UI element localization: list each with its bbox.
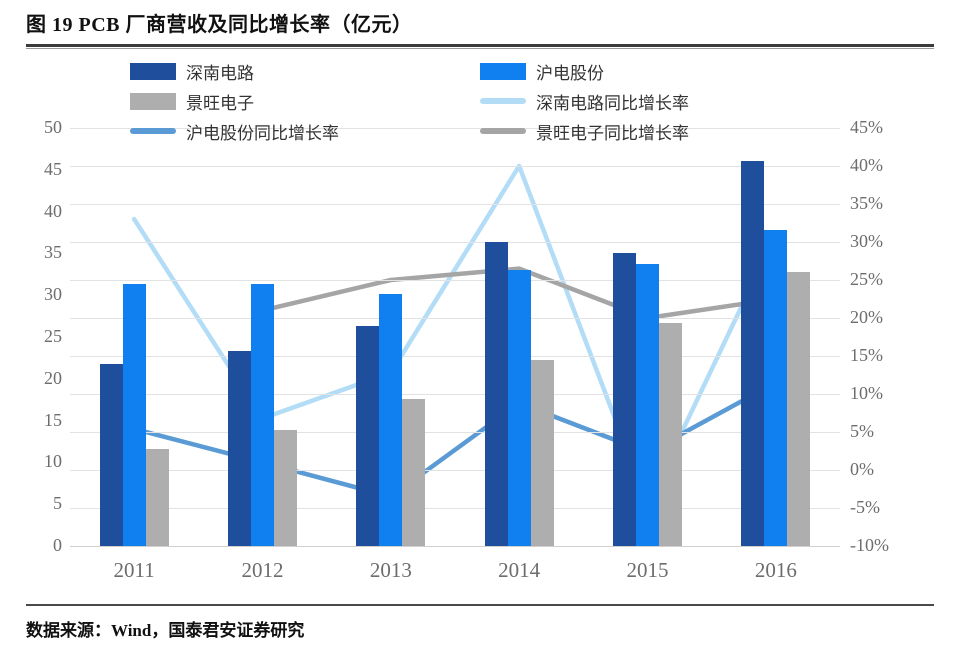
y-tick-right: 40%: [850, 155, 920, 176]
y-tick-left: 50: [18, 117, 62, 138]
bar-shennan: [356, 326, 379, 546]
gridline: [70, 432, 840, 433]
legend-item: 景旺电子同比增长率: [480, 119, 830, 144]
legend-line-swatch: [480, 128, 526, 134]
y-tick-left: 10: [18, 451, 62, 472]
gridline: [70, 394, 840, 395]
y-tick-left: 0: [18, 535, 62, 556]
y-tick-left: 30: [18, 284, 62, 305]
title-block: 图 19 PCB 厂商营收及同比增长率（亿元）: [26, 8, 934, 37]
y-tick-right: -5%: [850, 497, 920, 518]
bar-shennan: [613, 253, 636, 546]
bar-hudian: [379, 294, 402, 546]
footer-divider: [26, 604, 934, 606]
y-tick-left: 20: [18, 368, 62, 389]
y-tick-right: 15%: [850, 345, 920, 366]
y-tick-right: 35%: [850, 193, 920, 214]
legend-line-swatch: [480, 98, 526, 104]
x-tick-label: 2012: [203, 558, 323, 583]
gridline: [70, 242, 840, 243]
legend-label: 沪电股份: [536, 59, 604, 84]
bar-shennan: [228, 351, 251, 546]
chart-page: 图 19 PCB 厂商营收及同比增长率（亿元） 深南电路沪电股份景旺电子深南电路…: [0, 0, 960, 658]
y-tick-left: 25: [18, 326, 62, 347]
legend-label: 沪电股份同比增长率: [186, 119, 339, 144]
x-tick-label: 2015: [588, 558, 708, 583]
y-tick-left: 5: [18, 493, 62, 514]
bar-shennan: [100, 364, 123, 546]
bar-hudian: [123, 284, 146, 546]
y-tick-left: 45: [18, 159, 62, 180]
bar-hudian: [764, 230, 787, 546]
legend-item: 沪电股份同比增长率: [130, 119, 480, 144]
gridline: [70, 470, 840, 471]
legend-item: 景旺电子: [130, 89, 480, 114]
gridline: [70, 546, 840, 547]
gridline: [70, 318, 840, 319]
legend-label: 深南电路同比增长率: [536, 89, 689, 114]
line-series-layer: [70, 128, 840, 546]
gridline: [70, 204, 840, 205]
page-title: 图 19 PCB 厂商营收及同比增长率（亿元）: [26, 8, 934, 37]
x-tick-label: 2011: [74, 558, 194, 583]
x-tick-label: 2016: [716, 558, 836, 583]
legend-line-swatch: [130, 128, 176, 134]
x-tick-label: 2014: [459, 558, 579, 583]
y-tick-right: -10%: [850, 535, 920, 556]
bar-jingwang: [787, 272, 810, 546]
title-divider: [26, 44, 934, 47]
y-tick-right: 20%: [850, 307, 920, 328]
title-divider-thin: [26, 48, 934, 49]
bar-jingwang: [659, 323, 682, 546]
gridline: [70, 356, 840, 357]
y-tick-right: 5%: [850, 421, 920, 442]
y-tick-left: 15: [18, 410, 62, 431]
plot-area: [70, 128, 840, 546]
legend-item: 深南电路: [130, 59, 480, 84]
gridline: [70, 280, 840, 281]
y-tick-left: 40: [18, 201, 62, 222]
x-tick-label: 2013: [331, 558, 451, 583]
y-tick-right: 10%: [850, 383, 920, 404]
gridline: [70, 166, 840, 167]
y-tick-left: 35: [18, 242, 62, 263]
bar-hudian: [508, 270, 531, 546]
legend-item: 沪电股份: [480, 59, 830, 84]
bar-shennan: [485, 242, 508, 546]
legend-bar-swatch: [130, 63, 176, 80]
bar-jingwang: [402, 399, 425, 546]
legend-label: 景旺电子: [186, 89, 254, 114]
legend-bar-swatch: [130, 93, 176, 110]
y-tick-right: 45%: [850, 117, 920, 138]
bar-jingwang: [146, 449, 169, 546]
source-note: 数据来源：Wind，国泰君安证券研究: [26, 616, 304, 641]
gridline: [70, 508, 840, 509]
y-tick-right: 0%: [850, 459, 920, 480]
bar-jingwang: [531, 360, 554, 546]
chart-legend: 深南电路沪电股份景旺电子深南电路同比增长率沪电股份同比增长率景旺电子同比增长率: [130, 56, 830, 148]
legend-label: 景旺电子同比增长率: [536, 119, 689, 144]
legend-bar-swatch: [480, 63, 526, 80]
y-tick-right: 25%: [850, 269, 920, 290]
bar-jingwang: [274, 430, 297, 546]
bar-hudian: [636, 264, 659, 546]
legend-label: 深南电路: [186, 59, 254, 84]
legend-item: 深南电路同比增长率: [480, 89, 830, 114]
bar-shennan: [741, 161, 764, 546]
y-tick-right: 30%: [850, 231, 920, 252]
bar-hudian: [251, 284, 274, 547]
